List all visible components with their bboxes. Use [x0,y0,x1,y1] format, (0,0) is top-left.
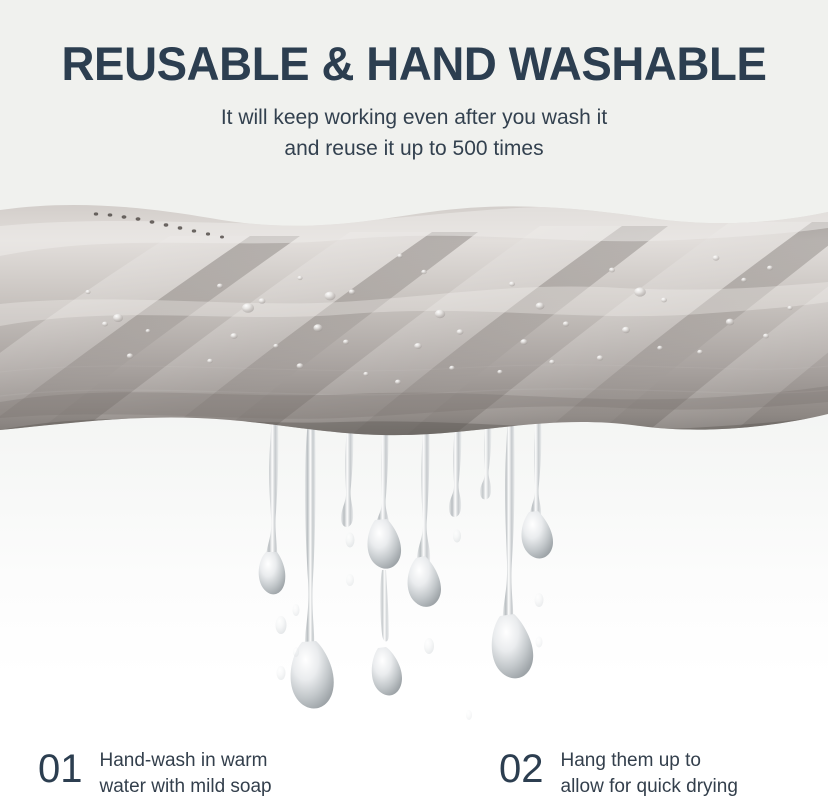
care-instructions: 01 Hand-wash in warm water with mild soa… [0,742,828,806]
step-2-number: 02 [499,742,544,792]
step-1-line-2: water with mild soap [100,774,272,800]
water-drips-illustration [0,420,828,740]
care-step-1: 01 Hand-wash in warm water with mild soa… [0,742,475,806]
subtitle-line-1: It will keep working even after you wash… [0,103,828,134]
step-1-line-1: Hand-wash in warm [100,748,272,774]
step-2-line-1: Hang them up to [561,748,738,774]
promo-page: REUSABLE & HAND WASHABLE It will keep wo… [0,0,828,806]
page-title: REUSABLE & HAND WASHABLE [12,0,815,87]
cloth-body [0,196,828,446]
care-step-2: 02 Hang them up to allow for quick dryin… [475,742,828,806]
page-subtitle: It will keep working even after you wash… [0,87,828,165]
step-1-text: Hand-wash in warm water with mild soap [83,742,272,800]
header-block: REUSABLE & HAND WASHABLE It will keep wo… [0,0,828,165]
step-2-line-2: allow for quick drying [561,774,738,800]
step-2-text: Hang them up to allow for quick drying [544,742,738,800]
twisted-cloth-image [0,196,828,446]
drip-strand-group [259,420,553,720]
step-1-number: 01 [38,742,83,792]
subtitle-line-2: and reuse it up to 500 times [0,134,828,165]
